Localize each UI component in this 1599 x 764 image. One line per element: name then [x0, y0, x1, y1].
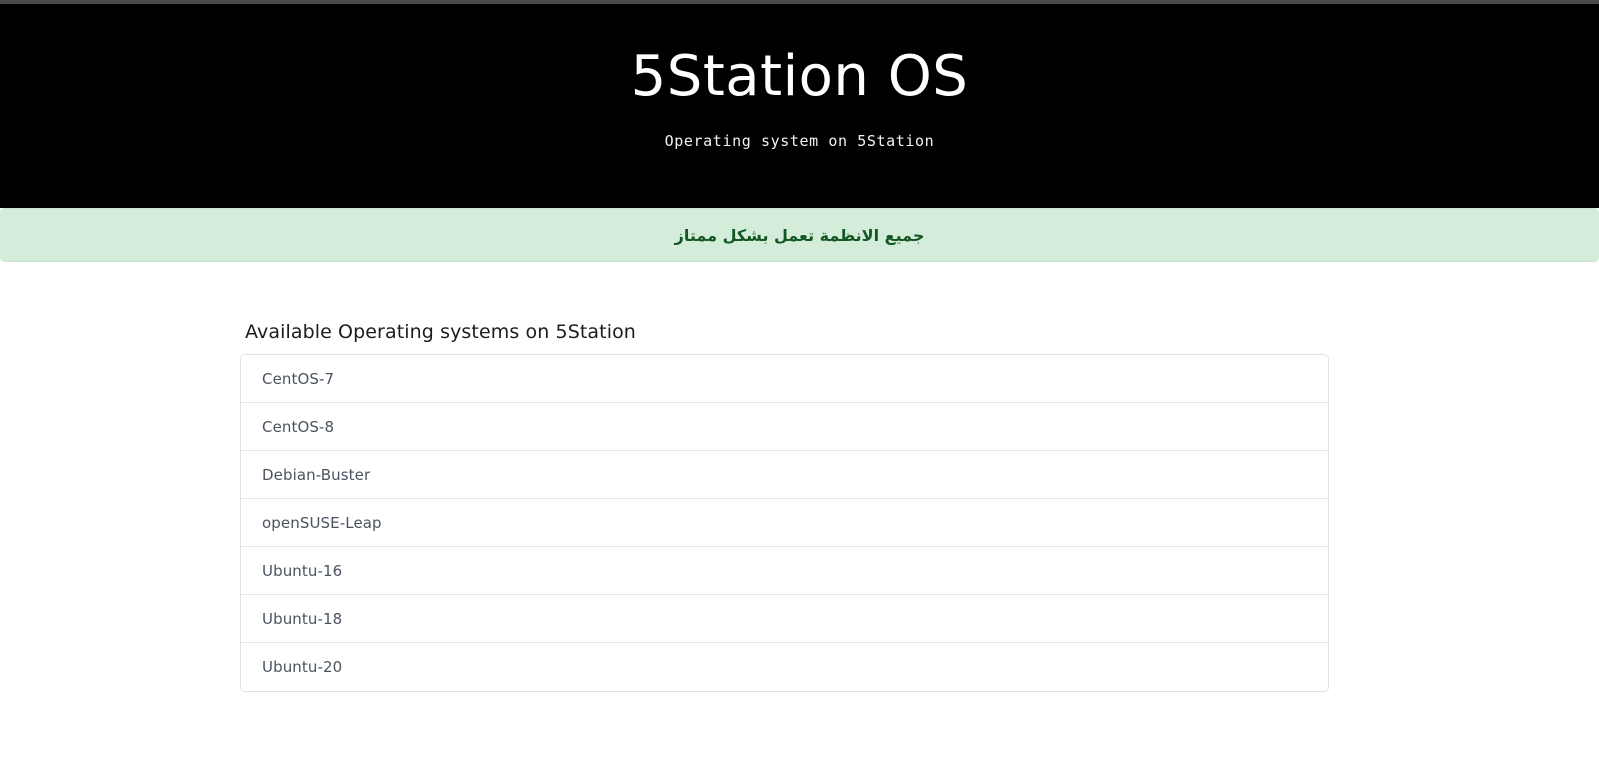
- page-root: 5Station OS Operating system on 5Station…: [0, 0, 1599, 764]
- hero-banner: 5Station OS Operating system on 5Station: [0, 4, 1599, 208]
- os-list-item[interactable]: Ubuntu-16: [241, 547, 1328, 595]
- os-list-item[interactable]: CentOS-8: [241, 403, 1328, 451]
- section-heading-available-os: Available Operating systems on 5Station: [245, 321, 636, 343]
- status-banner-message: جميع الانظمة تعمل بشكل ممتاز: [675, 226, 925, 245]
- os-list-item[interactable]: Ubuntu-18: [241, 595, 1328, 643]
- os-list-item[interactable]: CentOS-7: [241, 355, 1328, 403]
- os-list: CentOS-7CentOS-8Debian-BusteropenSUSE-Le…: [240, 354, 1329, 692]
- os-list-item[interactable]: openSUSE-Leap: [241, 499, 1328, 547]
- os-list-item[interactable]: Ubuntu-20: [241, 643, 1328, 691]
- os-list-item[interactable]: Debian-Buster: [241, 451, 1328, 499]
- page-title: 5Station OS: [631, 4, 969, 108]
- status-banner: جميع الانظمة تعمل بشكل ممتاز: [0, 208, 1599, 262]
- main-content: Available Operating systems on 5Station …: [0, 262, 1599, 764]
- page-subtitle: Operating system on 5Station: [665, 108, 935, 150]
